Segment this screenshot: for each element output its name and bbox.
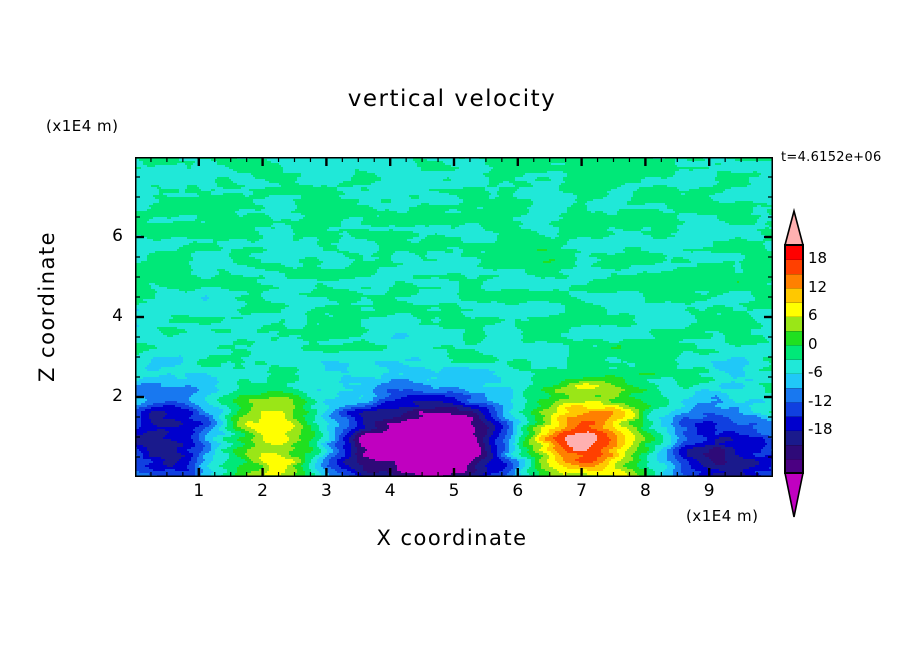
x-tick-label: 3 [306, 481, 346, 501]
x-tick-label: 2 [243, 481, 283, 501]
colorbar-tick-label: -12 [808, 392, 833, 410]
x-tick-label: 1 [179, 481, 219, 501]
colorbar-tick-label: 0 [808, 335, 818, 353]
z-axis-title: Z coordinate [35, 262, 59, 382]
colorbar-tick-label: 12 [808, 278, 827, 296]
y-tick-label: 6 [95, 226, 123, 246]
contour-field [135, 157, 773, 477]
colorbar-tick-label: 18 [808, 249, 827, 267]
z-axis-unit-label: (x1E4 m) [46, 117, 119, 135]
figure-title: vertical velocity [0, 86, 904, 112]
x-tick-label: 6 [498, 481, 538, 501]
x-tick-label: 5 [434, 481, 474, 501]
x-axis-unit-label: (x1E4 m) [686, 507, 759, 525]
y-tick-label: 4 [95, 306, 123, 326]
y-tick-label: 2 [95, 386, 123, 406]
x-tick-label: 9 [689, 481, 729, 501]
colorbar-tick-label: -6 [808, 363, 823, 381]
x-tick-label: 8 [625, 481, 665, 501]
colorbar-bands [785, 211, 803, 517]
x-axis-title: X coordinate [0, 526, 904, 550]
x-tick-label: 4 [370, 481, 410, 501]
timestamp-annotation: t=4.6152e+06 [781, 150, 882, 165]
figure-canvas: vertical velocity t=4.6152e+06 (x1E4 m) … [0, 0, 904, 654]
colorbar-tick-label: 6 [808, 306, 818, 324]
x-tick-label: 7 [562, 481, 602, 501]
contour-plot-area [135, 157, 773, 477]
colorbar-tick-label: -18 [808, 420, 833, 438]
